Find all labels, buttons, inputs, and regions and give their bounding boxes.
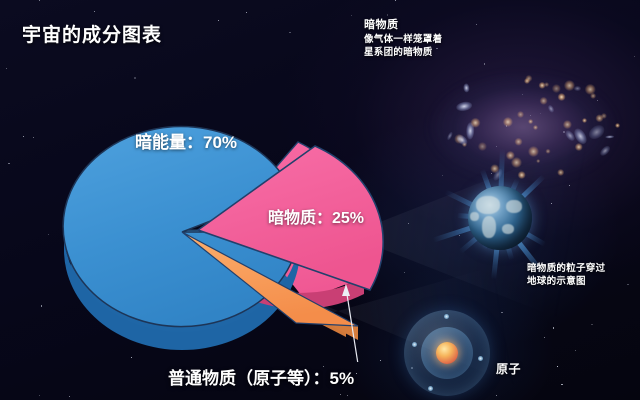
earth-image <box>468 186 532 250</box>
galaxy-spiral <box>463 83 470 93</box>
electron-dot <box>428 386 433 391</box>
annotation-earth-line2: 地球的示意图 <box>527 275 605 288</box>
star <box>395 0 396 1</box>
atom-nucleus <box>436 342 458 364</box>
star <box>501 312 503 314</box>
annotation-earth-line1: 暗物质的粒子穿过 <box>527 262 605 275</box>
annotation-dark-matter-line1: 像气体一样笼罩着 <box>364 33 442 46</box>
electron-dot <box>444 314 449 319</box>
star <box>218 20 219 21</box>
electron-dot <box>478 356 483 361</box>
star <box>553 327 555 329</box>
infographic-canvas: 宇宙的成分图表 <box>0 0 640 400</box>
label-ordinary-matter: 普通物质（原子等）：5% <box>168 364 354 389</box>
annotation-earth: 暗物质的粒子穿过 地球的示意图 <box>527 262 605 288</box>
electron-dot <box>412 342 417 347</box>
label-dark-energy: 暗能量：70% <box>135 128 237 153</box>
star <box>356 373 357 374</box>
star <box>246 12 247 13</box>
star <box>561 384 563 386</box>
galaxy-glow <box>543 81 549 87</box>
star <box>404 272 405 273</box>
star <box>476 24 477 25</box>
star <box>544 337 545 338</box>
star <box>627 284 628 285</box>
star <box>8 163 10 165</box>
star <box>634 56 635 57</box>
annotation-dark-matter: 暗物质 像气体一样笼罩着 星系团的暗物质 <box>364 18 442 59</box>
annotation-dark-matter-line2: 星系团的暗物质 <box>364 46 442 59</box>
star <box>591 324 592 325</box>
galaxy-glow <box>563 79 575 91</box>
star <box>39 0 40 1</box>
star <box>575 350 576 351</box>
annotation-atom: 原子 <box>496 360 521 377</box>
star <box>557 366 558 367</box>
annotation-dark-matter-heading: 暗物质 <box>364 18 442 33</box>
star <box>23 136 24 137</box>
star <box>551 203 552 204</box>
galaxy-glow <box>558 92 566 100</box>
star <box>33 137 34 138</box>
label-dark-matter: 暗物质：25% <box>268 204 364 228</box>
page-title: 宇宙的成分图表 <box>22 20 162 47</box>
